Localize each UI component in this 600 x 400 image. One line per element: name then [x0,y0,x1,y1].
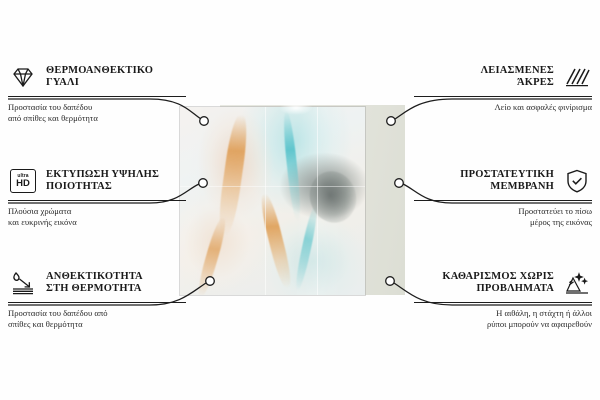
sparkle-clean-icon [562,269,592,297]
feature-divider [414,200,592,201]
glass-highlight [279,101,313,115]
feature-title: ΠΡΟΣΤΑΤΕΥΤΙΚΗ ΜΕΜΒΡΑΝΗ [460,169,554,194]
feature-header: ultra HD ΕΚΤΥΠΩΣΗ ΥΨΗΛΗΣ ΠΟΙΟΤΗΤΑΣ [8,166,194,196]
glass-sheen [180,107,365,295]
feature-divider [414,96,592,97]
diamond-icon [8,63,38,91]
shield-check-icon [562,167,592,195]
feature-title: ΑΝΘΕΚΤΙΚΟΤΗΤΑ ΣΤΗ ΘΕΡΜΟΤΗΤΑ [46,271,143,296]
ultra-hd-main-label: HD [16,179,30,189]
feature-divider [8,96,186,97]
feature-header: ΛΕΙΑΣΜΕΝΕΣ ΆΚΡΕΣ [406,62,592,92]
product-image [180,107,405,295]
feature-divider [8,302,186,303]
glass-reflection-line [180,186,365,187]
feature-description: Λείο και ασφαλές φινίρισμα [406,102,592,113]
feature-description: Πλούσια χρώματα και ευκρινής εικόνα [8,206,194,229]
feature-title: ΚΑΘΑΡΙΣΜΟΣ ΧΩΡΙΣ ΠΡΟΒΛΗΜΑΤΑ [442,271,554,296]
ultra-hd-badge-icon: ultra HD [8,167,38,195]
feature-heat-resistant-glass: ΘΕΡΜΟΑΝΘΕΚΤΙΚΟ ΓΥΑΛΙ Προστασία του δαπέδ… [8,62,194,125]
feature-divider [8,200,186,201]
feature-protective-membrane: ΠΡΟΣΤΑΤΕΥΤΙΚΗ ΜΕΜΒΡΑΝΗ Προστατεύει το πί… [406,166,592,229]
feature-title: ΛΕΙΑΣΜΕΝΕΣ ΆΚΡΕΣ [481,65,554,90]
flame-deflect-icon [8,269,38,297]
feature-title: ΕΚΤΥΠΩΣΗ ΥΨΗΛΗΣ ΠΟΙΟΤΗΤΑΣ [46,169,159,194]
feature-header: ΑΝΘΕΚΤΙΚΟΤΗΤΑ ΣΤΗ ΘΕΡΜΟΤΗΤΑ [8,268,194,298]
feature-header: ΠΡΟΣΤΑΤΕΥΤΙΚΗ ΜΕΜΒΡΑΝΗ [406,166,592,196]
feature-header: ΘΕΡΜΟΑΝΘΕΚΤΙΚΟ ΓΥΑΛΙ [8,62,194,92]
feature-header: ΚΑΘΑΡΙΣΜΟΣ ΧΩΡΙΣ ΠΡΟΒΛΗΜΑΤΑ [406,268,592,298]
feature-description: Προστασία του δαπέδου από σπίθες και θερ… [8,308,194,331]
glass-reflection-line [317,107,318,295]
feature-description: Η αιθάλη, η στάχτη ή άλλοι ρύποι μπορούν… [406,308,592,331]
feature-description: Προστασία του δαπέδου από σπίθες και θερ… [8,102,194,125]
glass-reflection-line [265,107,266,295]
feature-heat-durability: ΑΝΘΕΚΤΙΚΟΤΗΤΑ ΣΤΗ ΘΕΡΜΟΤΗΤΑ Προστασία το… [8,268,194,331]
glass-panel-artwork [180,107,365,295]
diagonal-lines-icon [562,63,592,91]
feature-high-quality-print: ultra HD ΕΚΤΥΠΩΣΗ ΥΨΗΛΗΣ ΠΟΙΟΤΗΤΑΣ Πλούσ… [8,166,194,229]
feature-polished-edges: ΛΕΙΑΣΜΕΝΕΣ ΆΚΡΕΣ Λείο και ασφαλές φινίρι… [406,62,592,113]
feature-easy-cleaning: ΚΑΘΑΡΙΣΜΟΣ ΧΩΡΙΣ ΠΡΟΒΛΗΜΑΤΑ Η αιθάλη, η … [406,268,592,331]
feature-description: Προστατεύει το πίσω μέρος της εικόνας [406,206,592,229]
feature-title: ΘΕΡΜΟΑΝΘΕΚΤΙΚΟ ΓΥΑΛΙ [46,65,153,90]
infographic-canvas: ΘΕΡΜΟΑΝΘΕΚΤΙΚΟ ΓΥΑΛΙ Προστασία του δαπέδ… [0,0,600,400]
feature-divider [414,302,592,303]
